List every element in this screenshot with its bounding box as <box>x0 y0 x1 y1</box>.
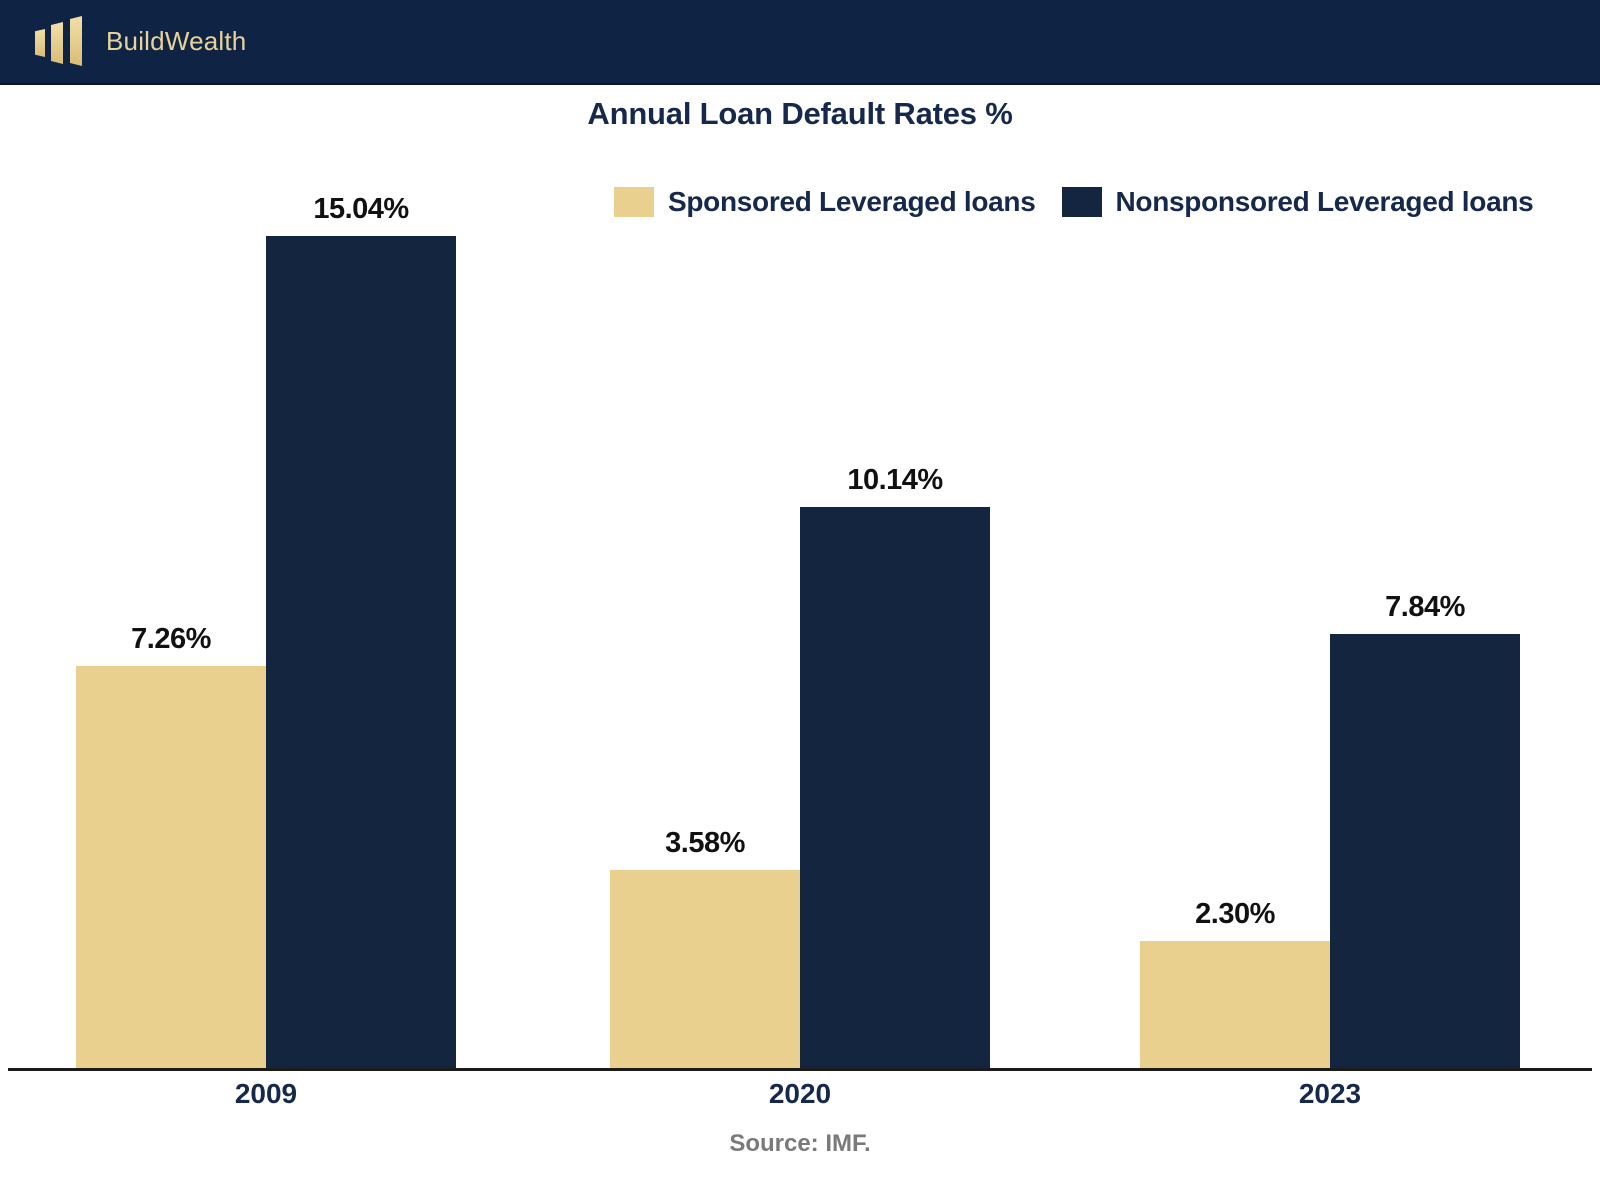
x-tick-label-2009: 2009 <box>76 1078 456 1110</box>
x-axis-line <box>8 1068 1592 1071</box>
bar-nonsponsored-2009[interactable]: 15.04% <box>266 236 456 1068</box>
bar-sponsored-2020[interactable]: 3.58% <box>610 870 800 1068</box>
bar-value-nonsponsored-2020: 10.14% <box>847 464 942 497</box>
chart-plot-area: 7.26% 15.04% 2009 3.58% 10.14% 2020 2.30… <box>0 0 1600 1200</box>
x-tick-label-2023: 2023 <box>1140 1078 1520 1110</box>
bar-value-sponsored-2023: 2.30% <box>1195 898 1275 931</box>
bar-nonsponsored-2020[interactable]: 10.14% <box>800 507 990 1068</box>
bar-value-sponsored-2020: 3.58% <box>665 827 745 860</box>
bar-value-nonsponsored-2009: 15.04% <box>313 193 408 226</box>
bar-value-nonsponsored-2023: 7.84% <box>1385 591 1465 624</box>
bar-sponsored-2009[interactable]: 7.26% <box>76 666 266 1068</box>
bar-sponsored-2023[interactable]: 2.30% <box>1140 941 1330 1068</box>
bar-value-sponsored-2009: 7.26% <box>131 623 211 656</box>
source-note: Source: IMF. <box>0 1130 1600 1158</box>
bar-nonsponsored-2023[interactable]: 7.84% <box>1330 634 1520 1068</box>
x-tick-label-2020: 2020 <box>610 1078 990 1110</box>
